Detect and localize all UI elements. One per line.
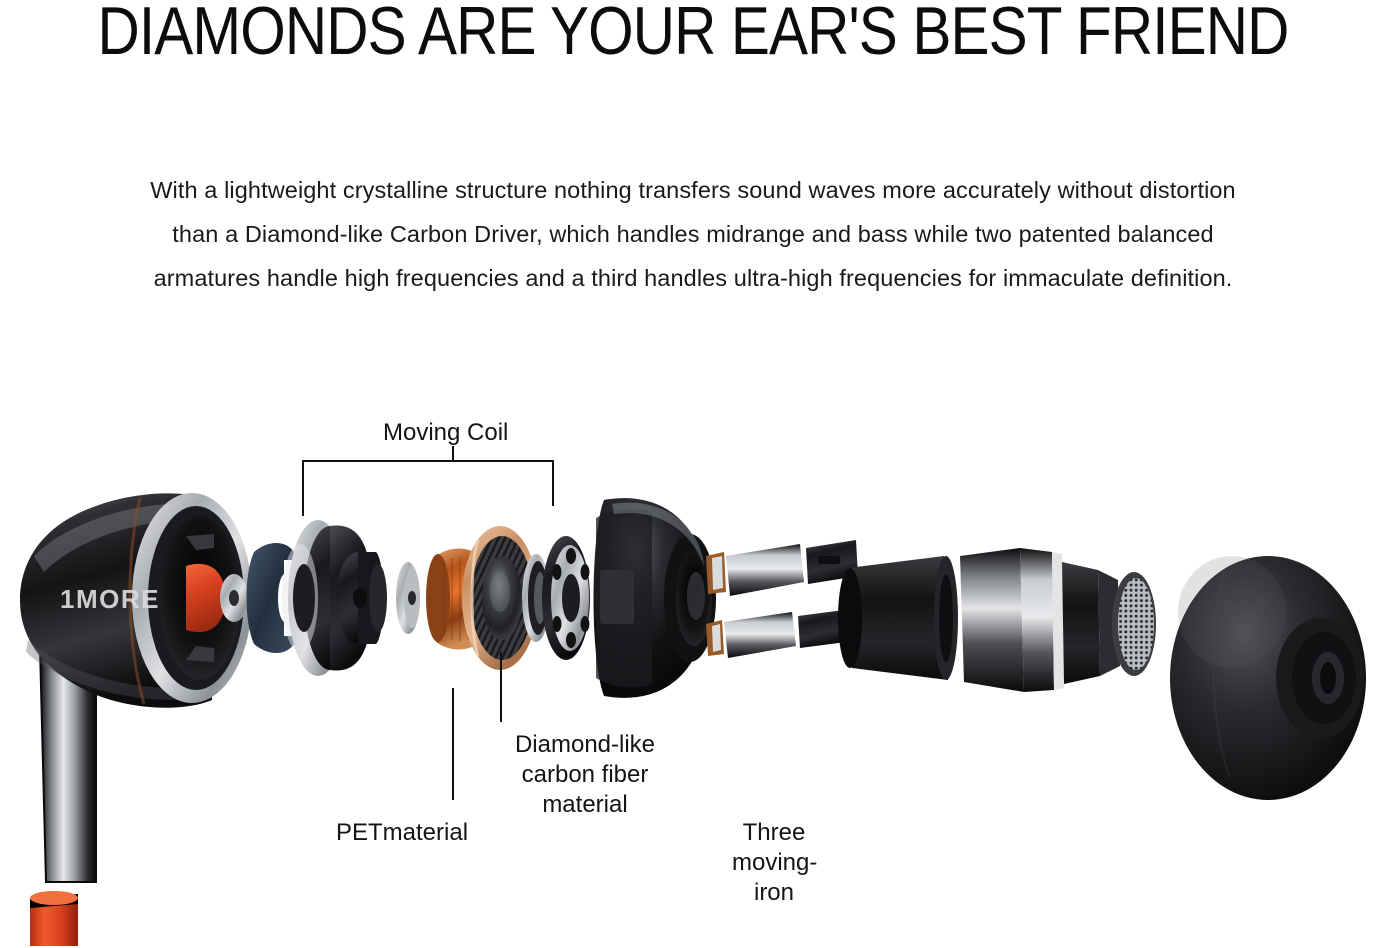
paragraph-line-1: With a lightweight crystalline structure… [60, 168, 1326, 212]
exploded-earphone-illustration: 1MORE [0, 0, 1386, 948]
moving-coil-bracket-top [302, 460, 554, 462]
nozzle-barrel [960, 548, 1156, 692]
description-paragraph: With a lightweight crystalline structure… [60, 168, 1326, 300]
spacer-ring [522, 554, 550, 642]
paragraph-line-3: armatures handle high frequencies and a … [60, 256, 1326, 300]
callout-diamond-like-carbon-fiber: Diamond-like carbon fiber material [502, 730, 668, 820]
moving-coil-bracket-right [552, 460, 554, 506]
brand-logo-1more: 1MORE [60, 584, 160, 614]
callout-three-moving-iron: Three moving-iron [732, 818, 816, 908]
diaphragm-dlc [462, 526, 538, 670]
moving-coil-bracket-stem [452, 446, 454, 461]
pole-piece-disc [336, 552, 387, 644]
callout-pet-material: PETmaterial [336, 818, 468, 848]
acoustic-sleeve [838, 556, 958, 680]
cable-stem [40, 648, 96, 882]
navy-gasket [247, 543, 295, 653]
page-title: DIAMONDS ARE YOUR EAR'S BEST FRIEND [97, 0, 1289, 66]
moving-coil-bracket-left [302, 460, 304, 516]
paragraph-line-2: than a Diamond-like Carbon Driver, which… [60, 212, 1326, 256]
balanced-armature-upper [706, 540, 858, 596]
silicone-ear-tip [1170, 556, 1366, 800]
red-cable-plug [30, 891, 78, 946]
perforated-vent-plate [542, 536, 590, 660]
metal-washer [396, 562, 420, 634]
earphone-shell: 1MORE [20, 493, 252, 882]
silver-ring-magnet [282, 520, 372, 676]
callout-moving-coil: Moving Coil [383, 418, 508, 448]
driver-housing [594, 498, 717, 698]
pet-material-leader-line [452, 688, 454, 800]
balanced-armature-lower [706, 610, 846, 658]
copper-voice-coil [426, 549, 491, 650]
infographic-canvas: DIAMONDS ARE YOUR EAR'S BEST FRIEND With… [0, 0, 1386, 948]
diamond-like-leader-line [500, 652, 502, 722]
